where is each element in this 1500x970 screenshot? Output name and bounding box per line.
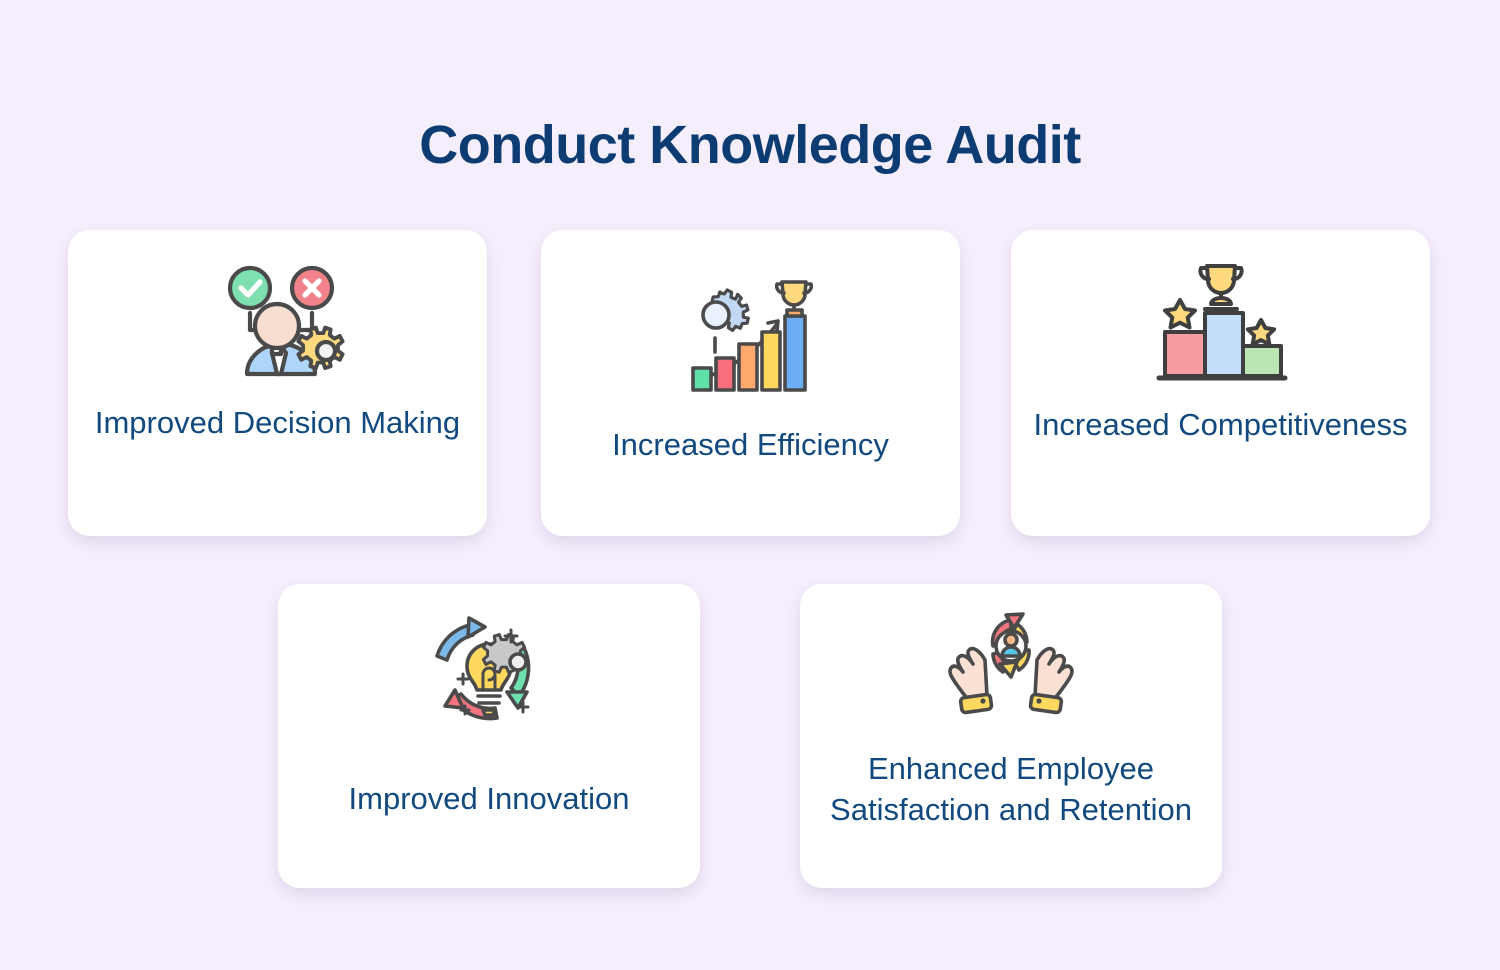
page-title: Conduct Knowledge Audit xyxy=(0,114,1500,176)
lightbulb-gear-cycle-icon xyxy=(423,610,555,734)
person-approve-reject-gear-icon xyxy=(208,258,348,380)
card-label: Improved Innovation xyxy=(278,778,700,819)
infographic-page: Conduct Knowledge Audit xyxy=(0,0,1500,970)
card-increased-competitiveness[interactable]: Increased Competitiveness xyxy=(1011,230,1430,536)
card-label: Improved Decision Making xyxy=(68,402,487,443)
card-enhanced-employee-satisfaction-retention[interactable]: Enhanced Employee Satisfaction and Reten… xyxy=(800,584,1222,888)
growth-chart-trophy-gear-icon xyxy=(685,276,817,394)
card-label: Increased Efficiency xyxy=(541,424,960,465)
card-label: Enhanced Employee Satisfaction and Reten… xyxy=(800,748,1222,830)
card-label: Increased Competitiveness xyxy=(1011,404,1430,445)
card-increased-efficiency[interactable]: Increased Efficiency xyxy=(541,230,960,536)
card-improved-innovation[interactable]: Improved Innovation xyxy=(278,584,700,888)
podium-trophy-stars-icon xyxy=(1153,258,1289,384)
hands-holding-person-cycle-icon xyxy=(941,602,1081,720)
card-improved-decision-making[interactable]: Improved Decision Making xyxy=(68,230,487,536)
